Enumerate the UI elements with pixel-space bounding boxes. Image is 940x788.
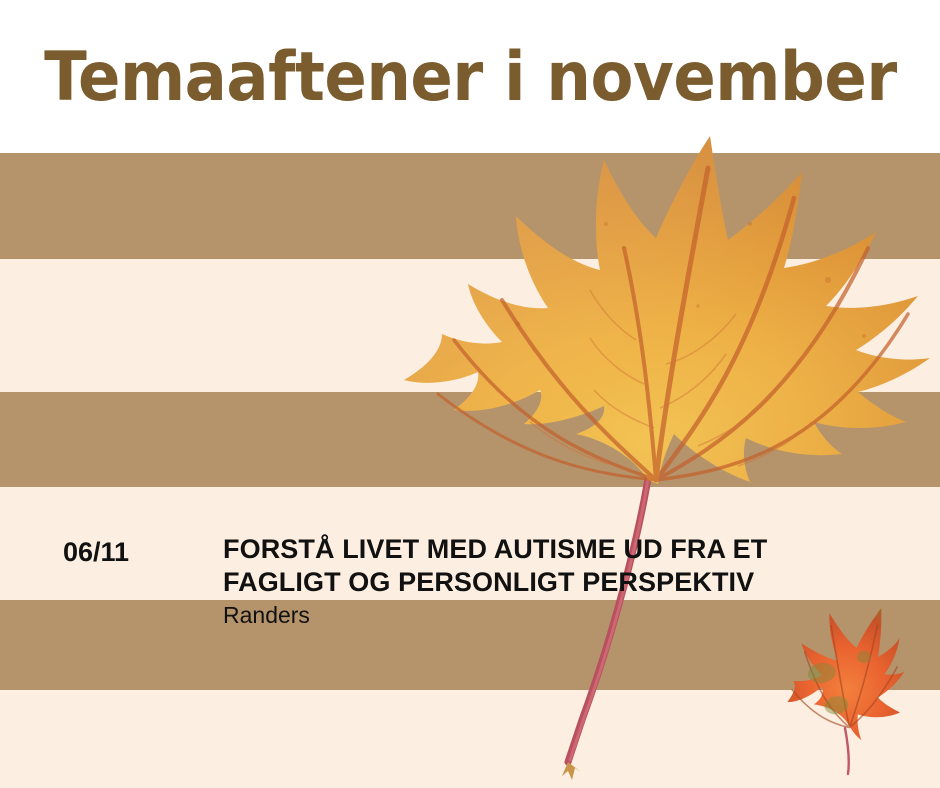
- event-title-line2: FAGLIGT OG PERSONLIGT PERSPEKTIV: [223, 566, 923, 599]
- event-location: Randers: [223, 601, 923, 630]
- event-row[interactable]: 06/11 FORSTÅ LIVET MED AUTISME UD FRA ET…: [0, 259, 940, 392]
- event-list-overlay: 06/11 FORSTÅ LIVET MED AUTISME UD FRA ET…: [0, 0, 940, 788]
- event-title-line1: FORSTÅ LIVET MED AUTISME UD FRA ET: [223, 533, 923, 566]
- event-date: 06/11: [63, 537, 129, 568]
- event-info: FORSTÅ LIVET MED AUTISME UD FRA ET FAGLI…: [223, 533, 923, 630]
- poster-canvas: Temaaftener i november 01/11 BIPOLAR LID…: [0, 0, 940, 788]
